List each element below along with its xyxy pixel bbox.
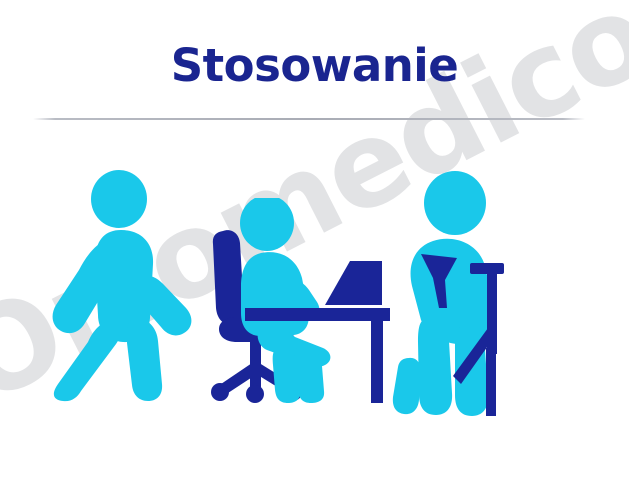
title-block: Stosowanie (0, 42, 629, 89)
page-title: Stosowanie (171, 42, 458, 89)
person-at-desk-icon (205, 198, 390, 403)
title-divider (33, 118, 585, 120)
presentation-slide: Ortomedico.pl Stosowanie (0, 0, 629, 493)
person-with-crutches-icon (385, 168, 525, 423)
walking-person-icon (38, 168, 198, 403)
